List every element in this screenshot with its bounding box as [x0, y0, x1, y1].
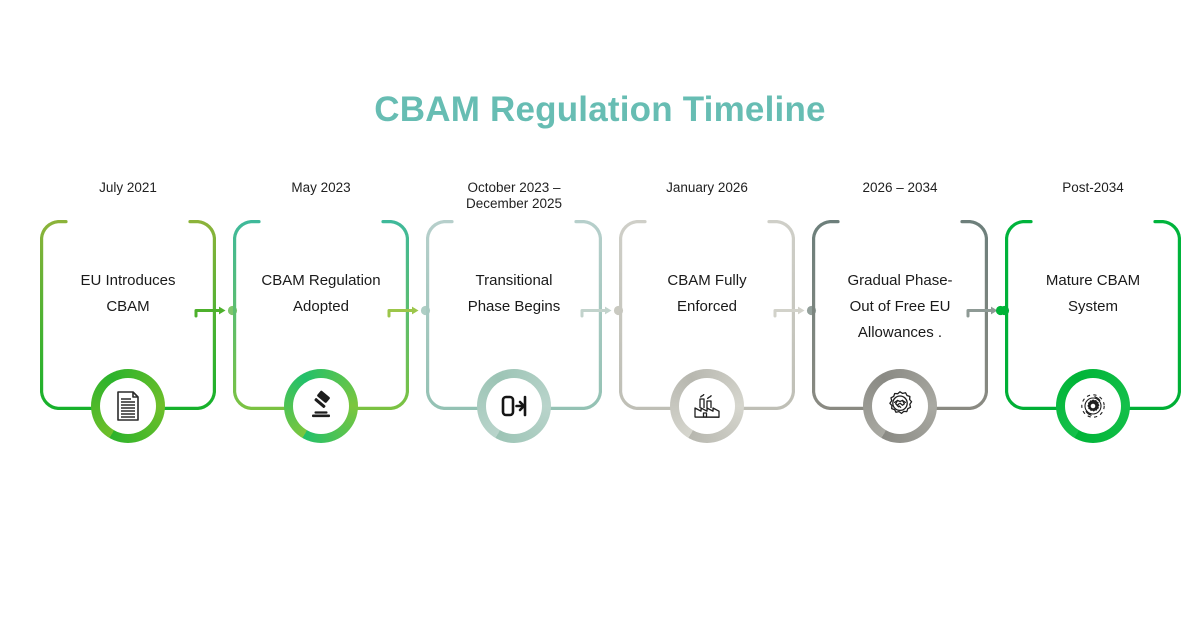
- document-icon: [111, 389, 145, 423]
- stage-date-label: 2026 – 2034: [796, 180, 1004, 196]
- stage-title-label: Transitional Phase Begins: [432, 268, 596, 320]
- factory-icon: [690, 389, 724, 423]
- timeline-stage-5[interactable]: 2026 – 2034 Gradual Phase- Out of Free E…: [812, 180, 988, 460]
- timeline-stage-6[interactable]: Post-2034 Mature CBAM System: [1005, 180, 1181, 460]
- stage-connector-3: [580, 302, 622, 318]
- stage-icon-medallion[interactable]: [1056, 369, 1130, 443]
- gear-handshake-icon: [883, 389, 917, 423]
- page-title: CBAM Regulation Timeline: [0, 90, 1200, 130]
- stage-connector-2: [387, 302, 429, 318]
- gavel-icon: [304, 389, 338, 423]
- infographic-canvas: CBAM Regulation Timeline July 2021 EU In…: [0, 0, 1200, 630]
- timeline-stage-2[interactable]: May 2023 CBAM Regulation Adopted: [233, 180, 409, 460]
- timeline-stage-3[interactable]: October 2023 – December 2025 Transitiona…: [426, 180, 602, 460]
- stage-title-label: CBAM Fully Enforced: [625, 268, 789, 320]
- stage-icon-medallion[interactable]: [863, 369, 937, 443]
- stage-date-label: May 2023: [217, 180, 425, 196]
- transition-icon: [497, 389, 531, 423]
- stage-title-label: CBAM Regulation Adopted: [239, 268, 403, 320]
- timeline-stage-4[interactable]: January 2026 CBAM Fully Enforced: [619, 180, 795, 460]
- stage-date-label: October 2023 – December 2025: [410, 180, 618, 211]
- stage-icon-medallion[interactable]: [284, 369, 358, 443]
- stage-date-label: Post-2034: [989, 180, 1197, 196]
- stage-title-label: Mature CBAM System: [1011, 268, 1175, 320]
- stage-icon-medallion[interactable]: [477, 369, 551, 443]
- system-gear-icon: [1076, 389, 1110, 423]
- stage-connector-1: [194, 302, 236, 318]
- stage-date-label: January 2026: [603, 180, 811, 196]
- stage-connector-4: [773, 302, 815, 318]
- stage-date-label: July 2021: [24, 180, 232, 196]
- stage-title-label: Gradual Phase- Out of Free EU Allowances…: [818, 268, 982, 346]
- timeline-stage-1[interactable]: July 2021 EU Introduces CBAM: [40, 180, 216, 460]
- stage-icon-medallion[interactable]: [91, 369, 165, 443]
- timeline-track: July 2021 EU Introduces CBAM: [0, 180, 1200, 460]
- stage-icon-medallion[interactable]: [670, 369, 744, 443]
- stage-node-dot-last: [983, 302, 1025, 318]
- stage-title-label: EU Introduces CBAM: [46, 268, 210, 320]
